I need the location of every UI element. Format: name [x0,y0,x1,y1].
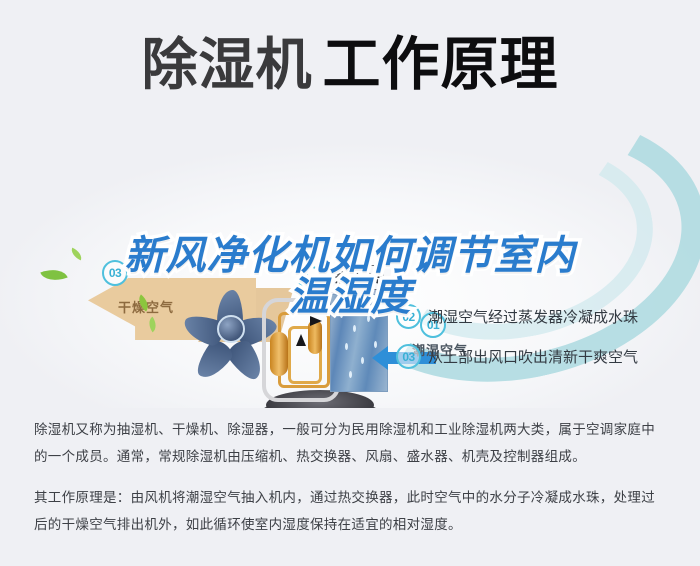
body-paragraph-2: 其工作原理是：由风机将潮湿空气抽入机内，通过热交换器，此时空气中的水分子冷凝成水… [34,484,668,538]
legend-row: 03 从上部出风口吹出清新干爽空气 [396,344,638,369]
page-title-secondary: 工作原理 [322,36,558,94]
overlay-headline-line-1: 新风净化机如何调节室内 [0,236,700,277]
body-copy: 除湿机又称为抽湿机、干燥机、除湿器，一般可分为民用除湿机和工业除湿机两大类，属于… [34,416,668,538]
legend-text: 从上部出风口吹出清新干爽空气 [428,346,638,367]
overlay-headline-line-2: 温湿度 [0,277,700,318]
page-title-primary: 除湿机 [141,37,312,93]
overlay-headline: 新风净化机如何调节室内 温湿度 [0,236,700,318]
infographic-page: 除湿机 工作原理 干燥空气 [0,0,700,566]
legend-marker-03: 03 [396,344,421,369]
page-title: 除湿机 工作原理 [0,22,700,108]
body-paragraph-1: 除湿机又称为抽湿机、干燥机、除湿器，一般可分为民用除湿机和工业除湿机两大类，属于… [34,416,668,470]
